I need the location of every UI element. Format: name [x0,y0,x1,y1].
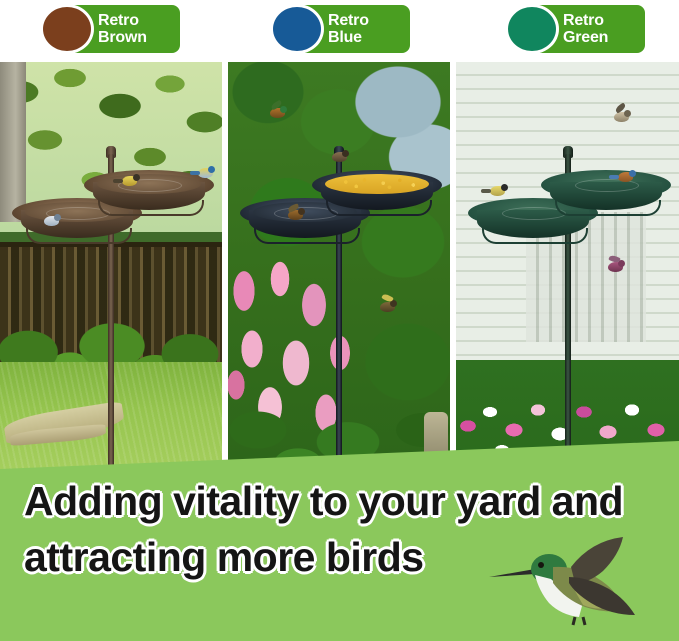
product-infographic: Retro Brown Retro Blue Retro Green [0,0,679,641]
hummingbird-icon [483,533,651,629]
photo-retro-green[interactable] [456,62,679,480]
photo-retro-brown-scene [0,62,222,480]
tree-trunk [0,62,26,222]
tree-canopy [0,62,222,232]
hummingbird-eye [538,562,544,568]
hummingbird-beak [489,569,535,577]
badge-label-retro-green: Retro Green [563,12,635,46]
badge-label-line1: Retro [328,12,400,29]
photo-retro-blue[interactable] [228,62,450,480]
tagline-line-1: Adding vitality to your yard and [24,473,644,529]
badge-label-line2: Brown [98,29,170,46]
badge-label-line2: Green [563,29,635,46]
photo-retro-green-scene [456,62,679,480]
hummingbird-wing-upper [571,537,623,583]
color-swatch-retro-blue[interactable] [273,7,321,51]
photo-retro-brown[interactable] [0,62,222,480]
color-swatch-retro-brown[interactable] [43,7,91,51]
color-swatch-retro-green[interactable] [508,7,556,51]
color-option-badges: Retro Brown Retro Blue Retro Green [0,0,679,60]
badge-label-line1: Retro [98,12,170,29]
tagline-banner: Adding vitality to your yard and attract… [0,441,679,641]
badge-label-retro-brown: Retro Brown [98,12,170,46]
product-photo-strip [0,62,679,480]
badge-label-retro-blue: Retro Blue [328,12,400,46]
badge-label-line1: Retro [563,12,635,29]
badge-label-line2: Blue [328,29,400,46]
photo-retro-blue-scene [228,62,450,480]
climbing-vines [456,62,679,392]
hummingbird-feet [573,617,585,625]
